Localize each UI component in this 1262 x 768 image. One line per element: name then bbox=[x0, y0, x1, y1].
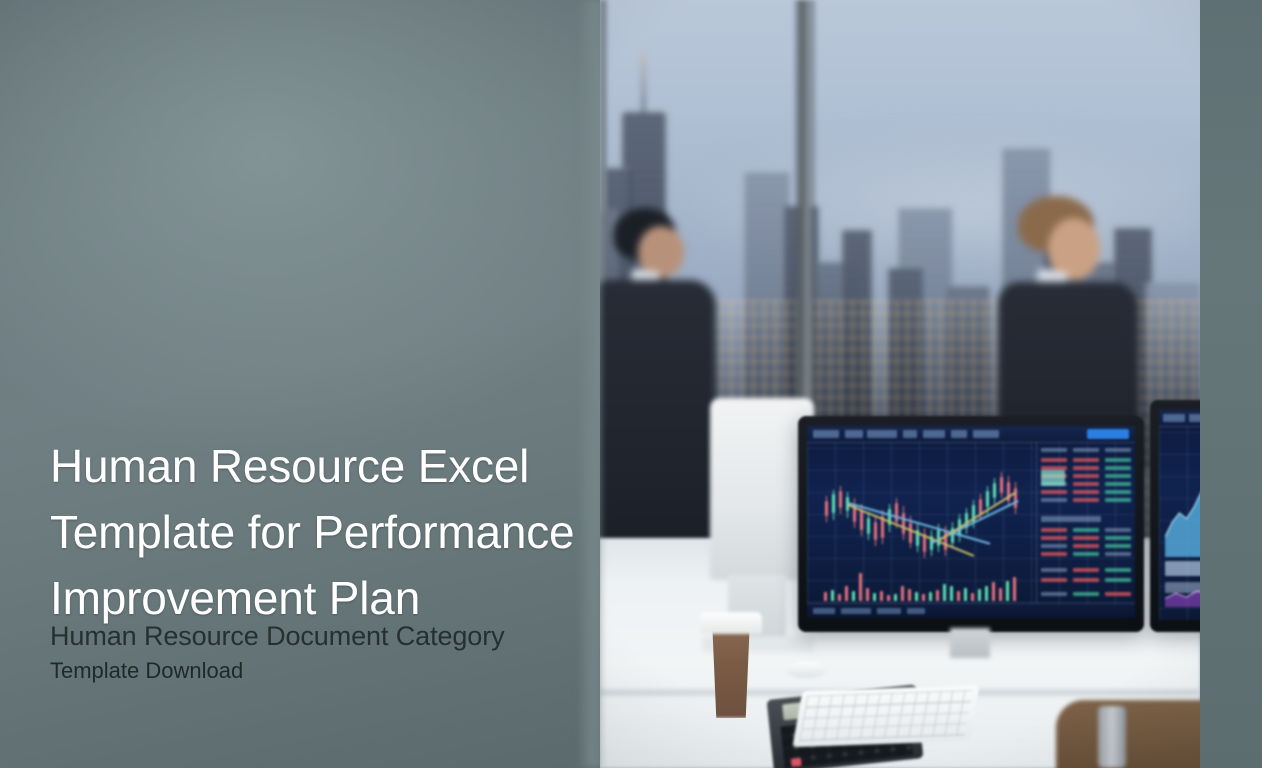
page-title: Human Resource Excel Template for Perfor… bbox=[50, 433, 590, 631]
area-chart bbox=[1165, 465, 1200, 557]
monitor-stand bbox=[950, 628, 990, 658]
secondary-chart-screen bbox=[1159, 410, 1200, 620]
trading-chart-screen bbox=[807, 426, 1135, 618]
presentation-slide: Human Resource Excel Template for Perfor… bbox=[0, 0, 1262, 768]
coffee-cup-lid bbox=[700, 612, 762, 634]
chair-post bbox=[1098, 706, 1126, 768]
office-chair bbox=[1056, 700, 1200, 768]
order-book-panel bbox=[1036, 442, 1135, 618]
keyboard bbox=[792, 685, 979, 747]
right-edge-strip bbox=[1200, 0, 1262, 768]
volume-bars bbox=[820, 568, 1030, 601]
mouse bbox=[786, 662, 826, 678]
template-download-label: Template Download bbox=[50, 657, 243, 685]
candlestick-series bbox=[820, 468, 1030, 568]
background-photograph bbox=[598, 0, 1200, 768]
document-category-label: Human Resource Document Category bbox=[50, 620, 505, 652]
secondary-monitor bbox=[1150, 400, 1200, 632]
title-panel bbox=[0, 0, 600, 768]
trading-monitor bbox=[798, 416, 1144, 632]
